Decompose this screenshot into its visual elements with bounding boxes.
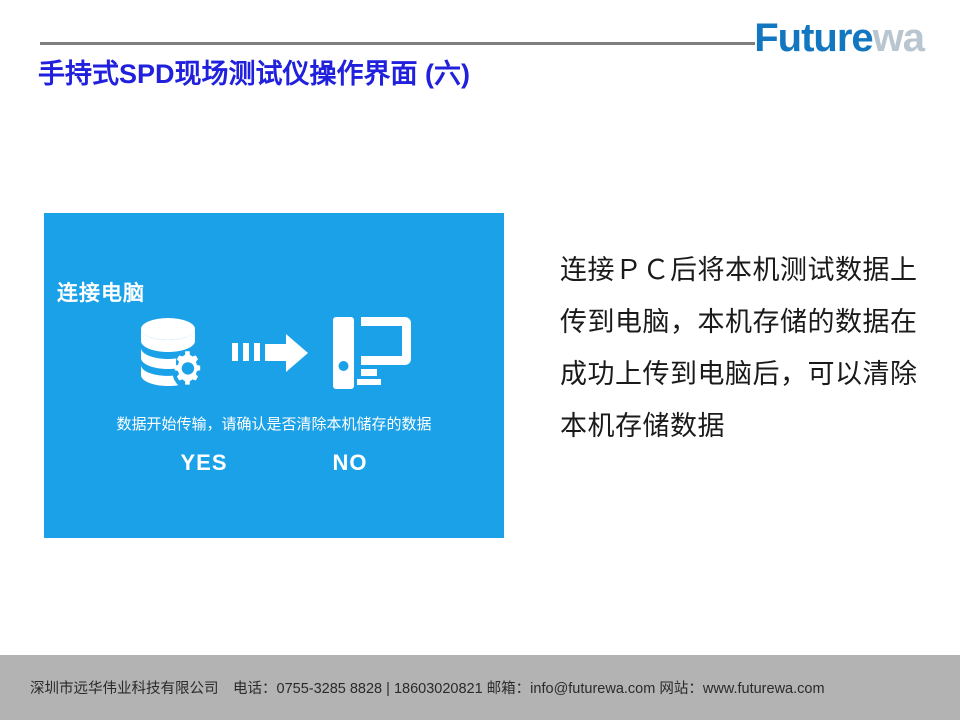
slide-header: 手持式SPD现场测试仪操作界面 (六) Futurewa (0, 0, 960, 110)
header-divider-rule (40, 42, 755, 45)
device-icon-row (44, 310, 504, 395)
desktop-computer-icon (331, 315, 411, 391)
device-screen-panel: 连接电脑 (44, 213, 504, 538)
yes-button[interactable]: YES (180, 450, 227, 476)
database-gear-icon (137, 315, 209, 391)
device-screen-caption: 数据开始传输，请确认是否清除本机储存的数据 (44, 413, 504, 434)
slide-footer: 深圳市远华伟业科技有限公司 电话：0755-3285 8828 | 186030… (0, 655, 960, 720)
brand-logo: Futurewa (754, 18, 924, 58)
brand-logo-primary-text: Future (754, 16, 872, 60)
brand-logo-secondary-text: wa (873, 16, 924, 60)
page-title: 手持式SPD现场测试仪操作界面 (六) (38, 52, 470, 91)
description-paragraph: 连接ＰＣ后将本机测试数据上传到电脑，本机存储的数据在成功上传到电脑后，可以清除本… (560, 244, 940, 452)
footer-contact-text: 深圳市远华伟业科技有限公司 电话：0755-3285 8828 | 186030… (30, 677, 825, 698)
device-action-row: YES NO (44, 450, 504, 476)
transfer-arrow-icon (231, 332, 309, 374)
no-button[interactable]: NO (333, 450, 368, 476)
device-screen-title: 连接电脑 (57, 277, 145, 307)
